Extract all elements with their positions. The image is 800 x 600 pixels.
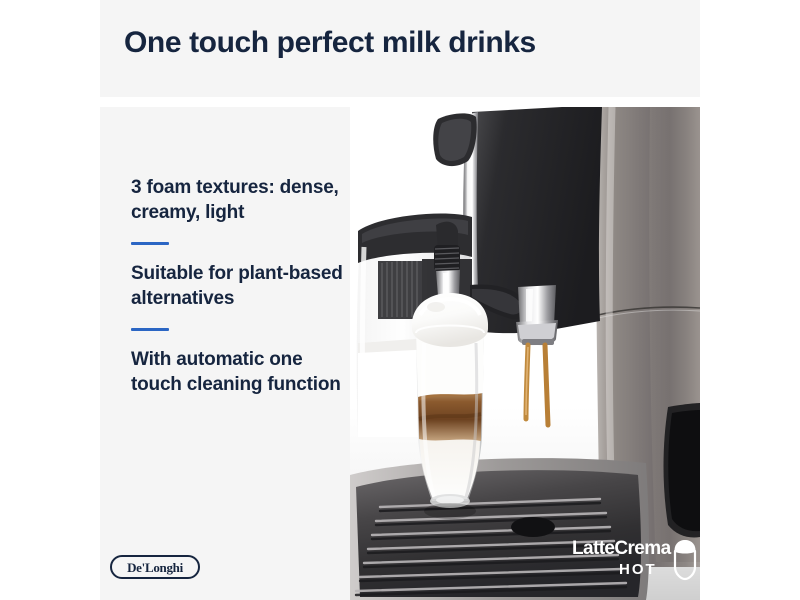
feature-item-2: Suitable for plant-based alternatives [131,261,345,311]
content-band: LatteCrema HOT 3 foam textures: dense, c… [100,107,700,600]
feature-divider-1 [131,242,169,245]
feature-list: 3 foam textures: dense, creamy, light Su… [131,175,345,397]
feature-item-1: 3 foam textures: dense, creamy, light [131,175,345,225]
delonghi-logo: De'Longhi [110,555,200,579]
feature-text-column: 3 foam textures: dense, creamy, light Su… [100,107,350,600]
machine-illustration [350,107,700,600]
feature-divider-2 [131,328,169,331]
page-title: One touch perfect milk drinks [124,26,536,60]
product-photo: LatteCrema HOT [350,107,700,600]
delonghi-logo-text: De'Longhi [127,561,183,574]
header-band: One touch perfect milk drinks [100,0,700,97]
feature-item-3: With automatic one touch cleaning functi… [131,347,345,397]
promo-banner: One touch perfect milk drinks [0,0,800,600]
